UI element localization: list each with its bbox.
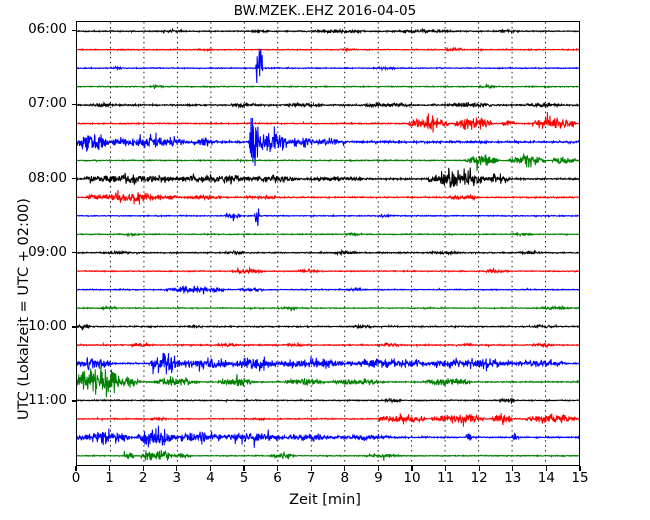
x-tick-label: 2	[128, 470, 158, 486]
seismogram-figure: BW.MZEK..EHZ 2016-04-05 UTC (Lokalzeit =…	[0, 0, 650, 520]
x-tick-mark	[411, 466, 412, 471]
trace-0845	[77, 233, 579, 236]
trace-0900	[77, 250, 579, 255]
trace-0945	[77, 306, 579, 311]
x-tick-label: 13	[498, 470, 528, 486]
x-tick-label: 3	[162, 470, 192, 486]
seismic-traces	[77, 22, 579, 465]
x-tick-label: 15	[565, 470, 595, 486]
x-tick-label: 4	[195, 470, 225, 486]
trace-0645	[77, 85, 579, 89]
y-tick-label: 08:00	[0, 170, 67, 186]
x-tick-mark	[176, 466, 177, 471]
trace-0830	[77, 208, 579, 226]
trace-0930	[77, 286, 579, 294]
x-tick-mark	[109, 466, 110, 471]
trace-0800	[77, 168, 579, 188]
trace-1130	[77, 426, 579, 448]
x-tick-mark	[378, 466, 379, 471]
x-tick-label: 6	[263, 470, 293, 486]
trace-1045	[77, 365, 579, 397]
y-tick-label: 10:00	[0, 318, 67, 334]
x-tick-mark	[479, 466, 480, 471]
x-tick-label: 9	[363, 470, 393, 486]
x-tick-mark	[546, 466, 547, 471]
y-tick-label: 07:00	[0, 95, 67, 111]
trace-0615	[77, 48, 579, 52]
trace-0745	[77, 154, 579, 171]
trace-0700	[77, 102, 579, 107]
trace-1145	[77, 450, 579, 461]
x-tick-mark	[579, 466, 580, 471]
trace-1000	[77, 325, 579, 331]
x-tick-mark	[512, 466, 513, 471]
x-tick-mark	[143, 466, 144, 471]
y-tick-label: 06:00	[0, 21, 67, 37]
trace-1015	[77, 343, 579, 347]
x-tick-label: 7	[296, 470, 326, 486]
x-tick-label: 10	[397, 470, 427, 486]
x-tick-mark	[277, 466, 278, 471]
trace-1100	[77, 398, 579, 404]
x-axis-title: Zeit [min]	[0, 492, 650, 508]
x-tick-label: 14	[531, 470, 561, 486]
x-tick-label: 1	[95, 470, 125, 486]
x-tick-mark	[75, 466, 76, 471]
x-tick-label: 0	[61, 470, 91, 486]
x-tick-mark	[210, 466, 211, 471]
x-tick-mark	[445, 466, 446, 471]
y-axis-title: UTC (Lokalzeit = UTC + 02:00)	[16, 198, 32, 420]
x-tick-mark	[311, 466, 312, 471]
trace-0815	[77, 190, 579, 204]
trace-0630	[77, 49, 579, 83]
y-tick-label: 09:00	[0, 244, 67, 260]
trace-0715	[77, 112, 579, 133]
trace-0600	[77, 29, 579, 33]
page-title: BW.MZEK..EHZ 2016-04-05	[0, 3, 650, 19]
trace-0915	[77, 268, 579, 274]
trace-1115	[77, 413, 579, 427]
x-tick-mark	[344, 466, 345, 471]
x-tick-label: 12	[464, 470, 494, 486]
y-tick-label: 11:00	[0, 392, 67, 408]
trace-1030	[77, 353, 579, 374]
x-tick-label: 5	[229, 470, 259, 486]
x-tick-label: 8	[330, 470, 360, 486]
x-tick-mark	[243, 466, 244, 471]
plot-area	[76, 21, 580, 466]
x-tick-label: 11	[431, 470, 461, 486]
